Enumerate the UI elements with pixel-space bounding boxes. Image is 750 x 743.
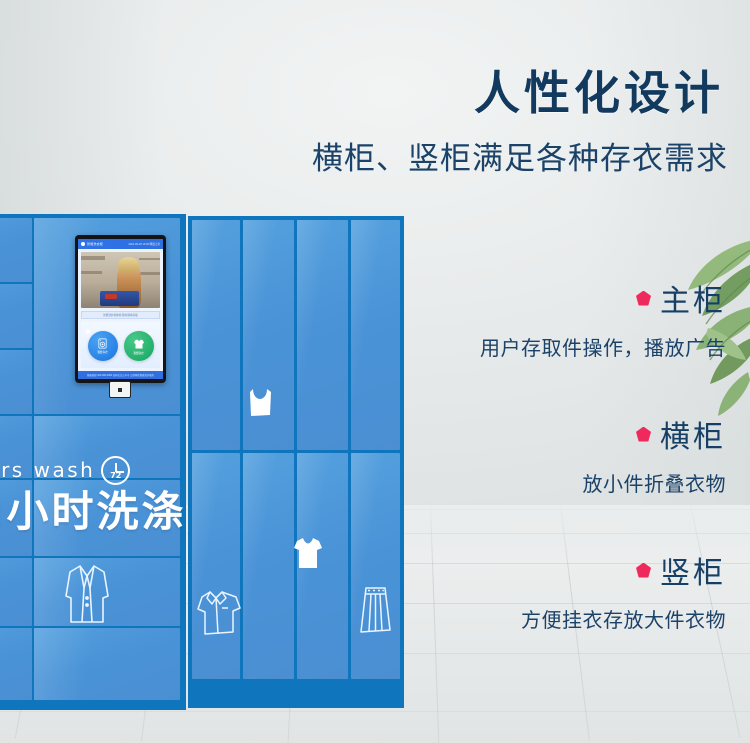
feature-title-row: 横柜 [583, 412, 727, 456]
locker-door[interactable] [0, 350, 32, 414]
feature-description: 放小件折叠衣物 [583, 468, 727, 497]
locker-door[interactable] [351, 453, 400, 679]
ad-caption-text: 智能洗护新体验 随时随地存取 [103, 313, 137, 317]
pentagon-marker-icon [636, 427, 651, 442]
kiosk-brand-label: 智能洗衣柜 [87, 242, 103, 246]
page-title: 人性化设计 [474, 57, 724, 123]
locker-door[interactable] [243, 453, 294, 679]
locker-door[interactable] [297, 453, 348, 679]
poster-canvas: 智能洗衣柜 2021-09-18 13:06 网络正常 智能洗护新体验 随时随地… [0, 0, 750, 743]
qr-scanner-module[interactable] [109, 381, 131, 398]
kiosk-display[interactable]: 智能洗衣柜 2021-09-18 13:06 网络正常 智能洗护新体验 随时随地… [75, 235, 166, 383]
feature-title-row: 竖柜 [521, 548, 726, 592]
advertisement-image [81, 252, 160, 308]
feature-item-main-cabinet: 主柜 用户存取件操作，播放广告 [480, 276, 726, 361]
kiosk-footer-text: 客服热线 400-000-0000 扫码关注公众号 立即体验智能洗护服务 [87, 373, 154, 377]
feature-title: 主柜 [660, 276, 726, 320]
feature-description: 方便挂衣存放大件衣物 [521, 604, 726, 633]
wash-banner-cn-text: 72小时洗涤 [0, 478, 192, 539]
pentagon-marker-icon [636, 291, 651, 306]
kiosk-footer: 客服热线 400-000-0000 扫码关注公众号 立即体验智能洗护服务 [78, 371, 163, 379]
locker-door[interactable] [0, 558, 32, 626]
washing-machine-icon [97, 338, 108, 349]
locker-door[interactable] [297, 220, 348, 450]
right-cabinet [188, 216, 404, 708]
deposit-button-label: 我要存衣 [97, 350, 107, 354]
locker-door[interactable] [351, 220, 400, 450]
feature-item-vertical-cabinet: 竖柜 方便挂衣存放大件衣物 [521, 548, 726, 633]
brand-logo-icon [81, 242, 85, 246]
ad-caption-bar: 智能洗护新体验 随时随地存取 [81, 311, 160, 319]
feature-description: 用户存取件操作，播放广告 [480, 332, 726, 361]
locker-door[interactable] [243, 220, 294, 450]
feature-title: 横柜 [660, 412, 726, 456]
tshirt-icon [133, 338, 145, 350]
locker-door[interactable] [192, 453, 240, 679]
kiosk-header: 智能洗衣柜 2021-09-18 13:06 网络正常 [78, 239, 163, 249]
kiosk-screen[interactable]: 智能洗衣柜 2021-09-18 13:06 网络正常 智能洗护新体验 随时随地… [78, 239, 163, 379]
feature-title-row: 主柜 [480, 276, 726, 320]
locker-door[interactable] [0, 284, 32, 348]
locker-door[interactable] [34, 628, 180, 700]
locker-door[interactable] [0, 628, 32, 700]
page-subtitle: 横柜、竖柜满足各种存衣需求 [312, 133, 728, 178]
feature-item-horizontal-cabinet: 横柜 放小件折叠衣物 [583, 412, 727, 497]
kiosk-action-area: 我要存衣 我要取衣 [81, 322, 160, 368]
pickup-button-label: 我要取衣 [133, 351, 143, 355]
pickup-button[interactable]: 我要取衣 [124, 331, 154, 361]
kiosk-brand: 智能洗衣柜 [81, 242, 103, 246]
kiosk-status-text: 2021-09-18 13:06 网络正常 [128, 242, 160, 246]
locker-door[interactable] [34, 558, 180, 626]
pentagon-marker-icon [636, 563, 651, 578]
feature-title: 竖柜 [660, 548, 726, 592]
locker-door[interactable] [0, 218, 32, 282]
deposit-button[interactable]: 我要存衣 [88, 331, 118, 361]
locker-door[interactable] [192, 220, 240, 450]
